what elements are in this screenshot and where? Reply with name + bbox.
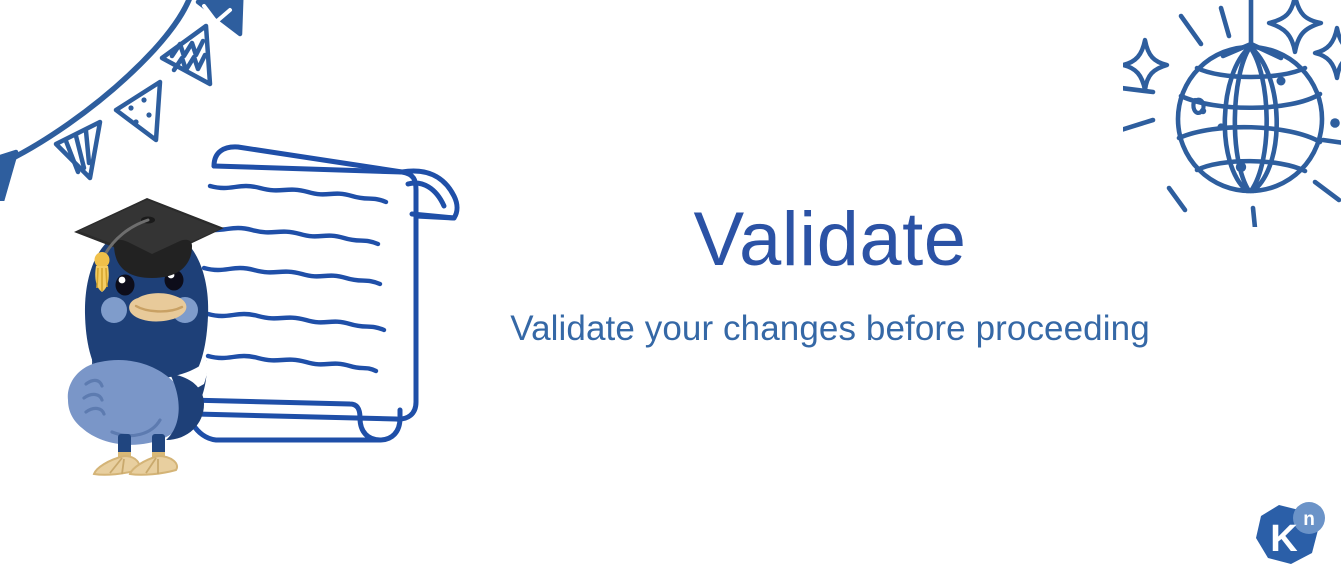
page-subtitle: Validate your changes before proceeding [470,308,1190,350]
page-title: Validate [470,200,1190,280]
graduate-bird-mascot [52,188,242,478]
title-block: Validate Validate your changes before pr… [470,200,1190,350]
certificate-scroll-icon [176,138,466,453]
disco-ball-icon [1123,0,1341,227]
party-bunting-icon [0,0,244,201]
logo-letter-k: K [1270,518,1298,560]
kn-brand-logo[interactable]: K n [1248,500,1328,572]
logo-letter-n: n [1303,509,1315,530]
slide-canvas: Validate Validate your changes before pr… [0,0,1341,585]
